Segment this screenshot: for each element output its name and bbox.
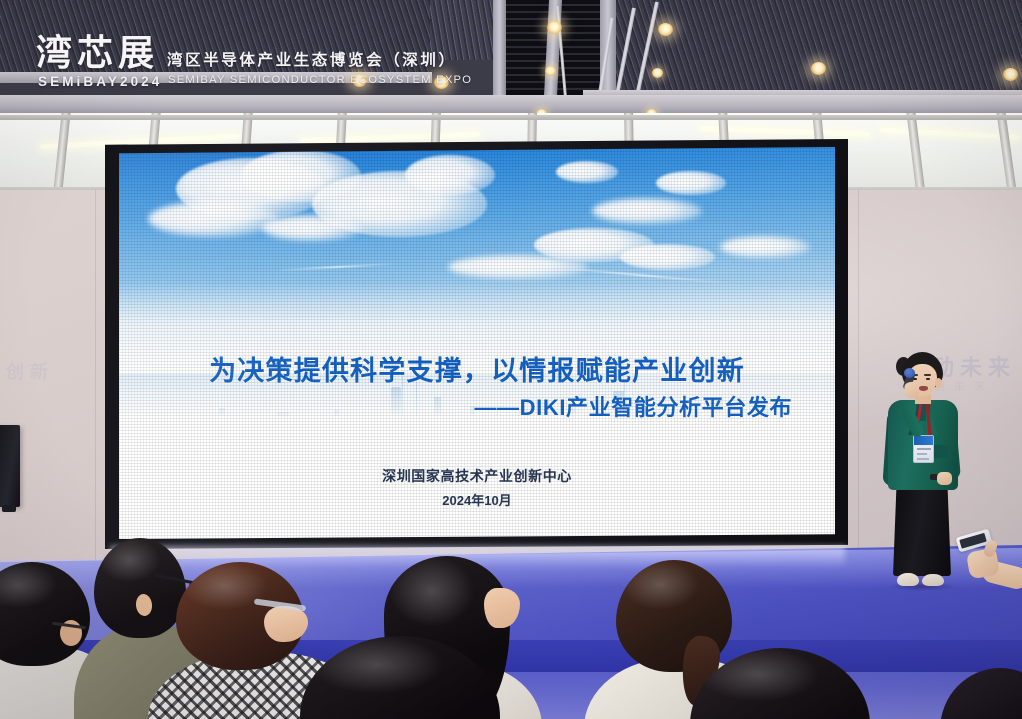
ceiling-spotlight	[547, 21, 562, 34]
badge-text-line	[917, 448, 931, 450]
slide-cloud	[262, 215, 362, 241]
slide-organization: 深圳国家高技术产业创新中心	[119, 466, 835, 486]
slide-cloud	[620, 244, 715, 270]
audience-head	[940, 668, 1022, 719]
badge-text-line	[917, 453, 927, 455]
presenter-ear	[935, 378, 942, 388]
slide-cloud	[656, 171, 726, 195]
led-presentation-screen[interactable]: 为决策提供科学支撑，以情报赋能产业创新 ——DIKI产业智能分析平台发布 深圳国…	[105, 139, 848, 549]
slide-cloud	[148, 201, 278, 237]
ceiling-beam-main	[0, 95, 1022, 115]
presenter-id-badge	[913, 435, 934, 463]
presenter-eye-right	[926, 378, 930, 380]
slide-cloud	[720, 236, 810, 258]
audience-member	[940, 668, 1022, 719]
ceiling-slat-panel-right	[585, 0, 1022, 96]
ceiling-spotlight	[652, 68, 663, 78]
audience-head	[690, 648, 870, 719]
presentation-slide: 为决策提供科学支撑，以情报赋能产业创新 ——DIKI产业智能分析平台发布 深圳国…	[119, 147, 835, 539]
wall-slogan-text-left: 创新	[6, 358, 54, 384]
slide-cloud	[556, 161, 618, 183]
audience-hand-holding-phone	[952, 528, 1022, 603]
slide-cloud	[405, 155, 495, 195]
presenter-shoe-left	[897, 573, 919, 586]
slide-contrail	[277, 263, 397, 271]
slide-date: 2024年10月	[119, 490, 835, 509]
hair-highlight	[690, 648, 870, 719]
event-logo-english: SEMiBAY2024	[38, 75, 162, 89]
ceiling-spotlight	[1003, 68, 1018, 81]
presenter-eyebrow-right	[924, 374, 931, 376]
slide-main-title: 为决策提供科学支撑，以情报赋能产业创新	[119, 349, 835, 388]
ceiling-spotlight	[545, 66, 556, 76]
audience-head	[300, 636, 500, 719]
slide-subtitle: ——DIKI产业智能分析平台发布	[474, 390, 792, 422]
badge-text-line	[917, 458, 929, 460]
event-logo-chinese: 湾芯展	[36, 36, 159, 72]
event-tagline-english: SEMIBAY SEMICONDUCTOR ECOSYSTEM EXPO	[168, 75, 472, 86]
conference-photo-scene: 动未来 共 创 未 来 创新	[0, 0, 1022, 719]
ceiling-slat-texture	[585, 0, 1022, 96]
presenter-hand-right	[937, 472, 952, 485]
presenter-mouth	[919, 386, 928, 391]
slide-cloud	[592, 198, 702, 224]
window-rail	[0, 115, 1022, 120]
speaker-mount-bracket	[2, 505, 16, 512]
wall-panel-seam	[95, 190, 96, 570]
event-tagline-chinese: 湾区半导体产业生态博览会（深圳）	[167, 53, 457, 69]
audience-member	[690, 648, 870, 719]
badge-header-band	[914, 436, 933, 445]
ceiling-spotlight	[658, 23, 673, 36]
microphone-head-icon	[904, 368, 915, 378]
ceiling-spotlight	[811, 62, 826, 75]
audience-member	[300, 636, 500, 719]
wall-speaker-box	[0, 425, 20, 507]
smartphone-screen[interactable]	[959, 533, 986, 549]
screen-display-area[interactable]: 为决策提供科学支撑，以情报赋能产业创新 ——DIKI产业智能分析平台发布 深圳国…	[119, 147, 835, 539]
presenter-skirt	[893, 486, 951, 576]
hair-highlight	[300, 636, 500, 719]
audience-face-profile	[484, 588, 520, 628]
presenter-shoe-right	[922, 574, 944, 586]
wall-panel-seam	[858, 190, 859, 570]
